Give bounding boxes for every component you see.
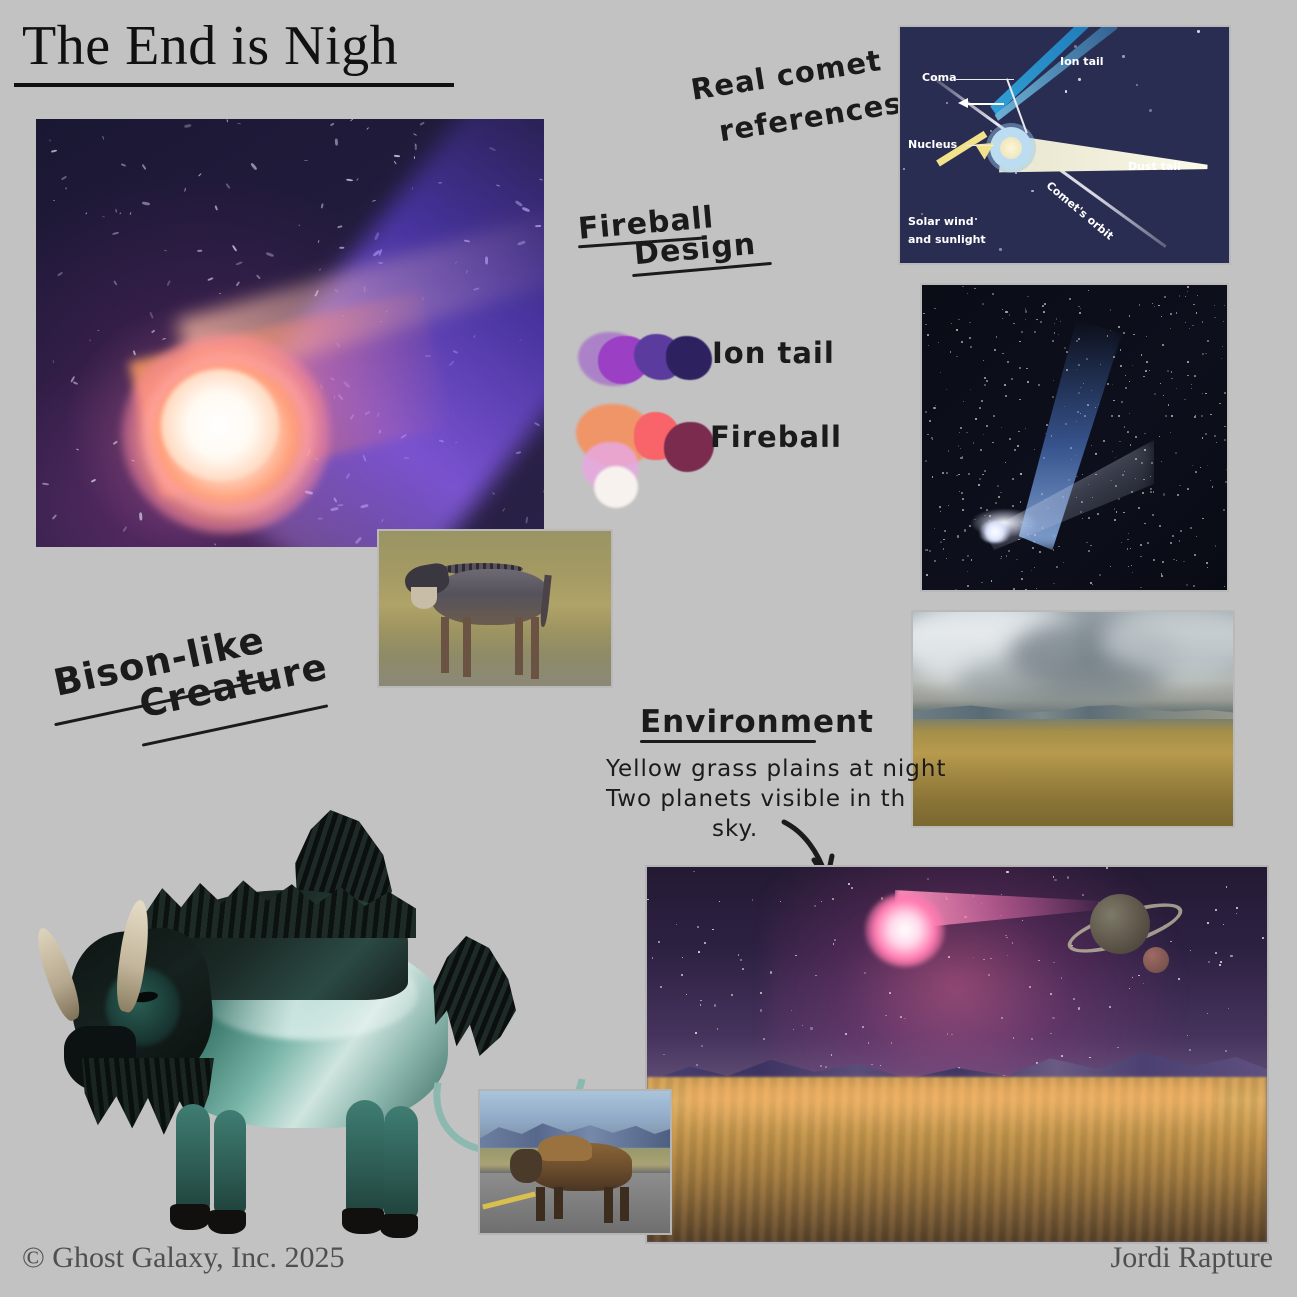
american-bison-on-road-photograph bbox=[478, 1089, 672, 1235]
storm-cloud bbox=[953, 656, 1163, 710]
ringed-planet bbox=[1090, 894, 1150, 954]
wildebeest-leg bbox=[463, 617, 471, 677]
environment-note-line3: sky. bbox=[712, 816, 758, 842]
moodboard-page: The End is Nigh Real comet references Co… bbox=[0, 0, 1297, 1297]
environment-note-line1: Yellow grass plains at night bbox=[606, 756, 946, 782]
wildebeest-leg bbox=[441, 617, 449, 673]
bison-leg bbox=[554, 1187, 563, 1219]
second-planet bbox=[1143, 947, 1169, 973]
diagram-label-nucleus: Nucleus bbox=[908, 138, 957, 151]
wildebeest-beard bbox=[411, 587, 437, 609]
swatch-fireball-5 bbox=[594, 466, 638, 508]
creature-hoof bbox=[208, 1210, 246, 1234]
label-ion-tail: Ion tail bbox=[712, 336, 835, 370]
bison-leg bbox=[536, 1187, 545, 1221]
golden-grass-plains-photograph bbox=[911, 610, 1235, 828]
bison-leg bbox=[604, 1187, 613, 1223]
swatch-fireball-3 bbox=[664, 422, 714, 472]
environment-underline bbox=[640, 740, 816, 743]
comet-fireball-painting bbox=[36, 119, 544, 547]
hale-bopp-comet-photograph bbox=[920, 283, 1229, 592]
environment-grass-highlight bbox=[684, 1085, 1217, 1130]
wildebeest-leg bbox=[531, 617, 539, 679]
diagram-label-solar-wind-1: Solar wind bbox=[908, 215, 974, 228]
footer-artist: Jordi Rapture bbox=[1111, 1241, 1273, 1275]
teal-bison-like-creature-concept bbox=[28, 818, 518, 1230]
coma-direction-arrowhead bbox=[958, 98, 968, 108]
creature-leg-rear-far bbox=[346, 1100, 384, 1216]
diagram-label-solar-wind-2: and sunlight bbox=[908, 233, 986, 246]
coma-direction-arrow bbox=[962, 103, 1004, 105]
fireball-core bbox=[161, 369, 279, 481]
diagram-label-dust-tail: Dust tail bbox=[1128, 160, 1181, 173]
creature-hoof bbox=[170, 1204, 210, 1230]
swatch-group-fireball bbox=[570, 404, 720, 510]
creature-hoof bbox=[342, 1208, 384, 1234]
bison-head bbox=[510, 1149, 542, 1183]
environment-note-line2: Two planets visible in th bbox=[606, 786, 906, 812]
creature-leg-front-far bbox=[176, 1104, 210, 1212]
label-environment-heading: Environment bbox=[640, 704, 874, 740]
photo-comet-head bbox=[978, 521, 1012, 543]
footer-copyright: © Ghost Galaxy, Inc. 2025 bbox=[22, 1241, 344, 1275]
bison-hump bbox=[538, 1135, 592, 1161]
creature-leg-rear-near bbox=[384, 1106, 418, 1218]
title-underline bbox=[14, 83, 454, 87]
diagram-label-coma: Coma bbox=[922, 71, 957, 84]
night-plains-environment-concept bbox=[645, 865, 1269, 1244]
creature-leg-front-near bbox=[214, 1110, 246, 1214]
wildebeest-leg bbox=[515, 617, 523, 675]
bison-leg bbox=[620, 1187, 629, 1221]
environment-comet-core bbox=[865, 893, 945, 967]
blue-wildebeest-photograph bbox=[377, 529, 613, 688]
swatch-ion-4 bbox=[666, 336, 712, 380]
page-title: The End is Nigh bbox=[22, 14, 398, 78]
diagram-label-ion-tail: Ion tail bbox=[1060, 55, 1104, 68]
label-fireball: Fireball bbox=[710, 420, 842, 454]
diagram-nucleus bbox=[1000, 137, 1022, 159]
nucleus-leader-line bbox=[966, 145, 994, 146]
comet-anatomy-diagram: Coma Ion tail Nucleus Dust tail Comet's … bbox=[898, 25, 1231, 265]
swatch-group-ion-tail bbox=[578, 328, 708, 390]
creature-hoof bbox=[380, 1214, 418, 1238]
